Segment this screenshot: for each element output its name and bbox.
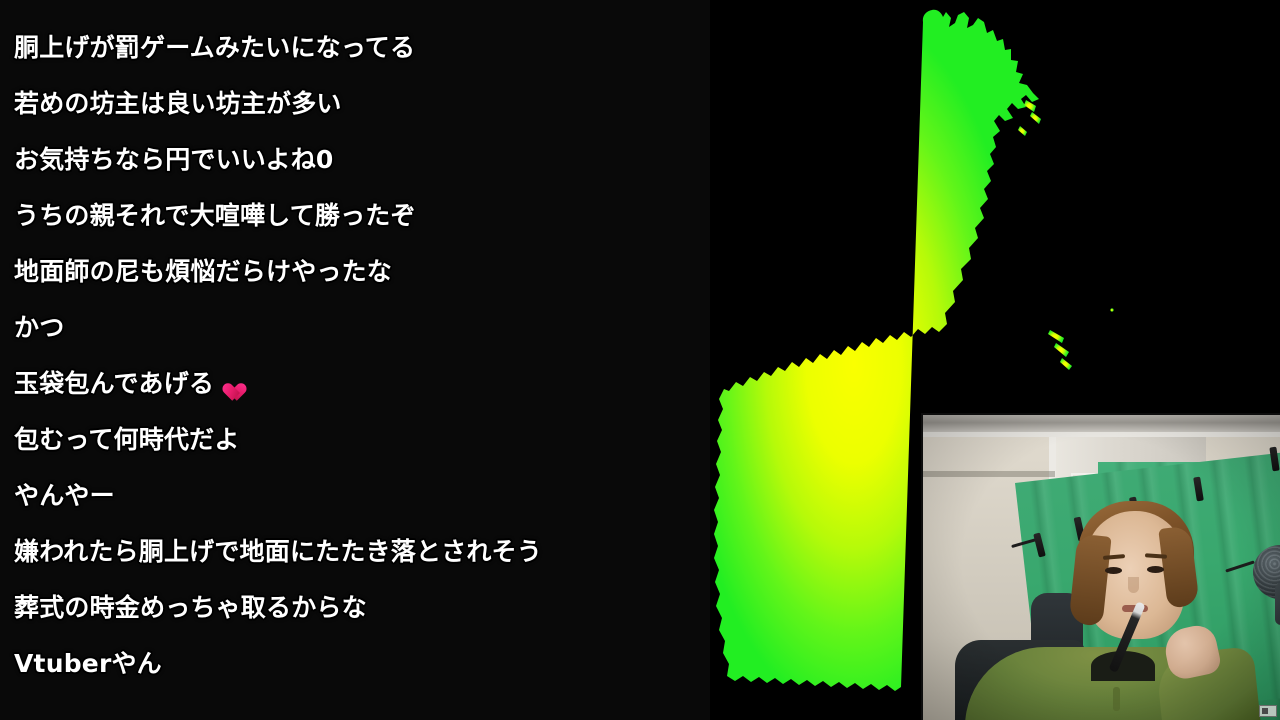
comment-text: 葬式の時金めっちゃ取るからな bbox=[14, 593, 367, 622]
streamer-webcam-overlay[interactable] bbox=[921, 413, 1280, 720]
comment-text: Vtuberやん bbox=[14, 649, 162, 678]
comment-list[interactable]: 胴上げが罰ゲームみたいになってる 若めの坊主は良い坊主が多い お気持ちなら円でい… bbox=[0, 0, 710, 692]
heart-icon bbox=[218, 375, 240, 395]
comment-item: お気持ちなら円でいいよね0 bbox=[0, 132, 710, 188]
comment-text: かつ bbox=[14, 313, 64, 342]
microphone-body bbox=[1275, 583, 1280, 625]
comment-item: 若めの坊主は良い坊主が多い bbox=[0, 76, 710, 132]
jacket-zipper bbox=[1113, 687, 1120, 711]
comment-text: 玉袋包んであげる bbox=[14, 369, 214, 398]
comment-text: うちの親それで大喧嘩して勝ったぞ bbox=[14, 201, 416, 230]
comment-item: Vtuberやん bbox=[0, 636, 710, 692]
live-comment-panel[interactable]: 胴上げが罰ゲームみたいになってる 若めの坊主は良い坊主が多い お気持ちなら円でい… bbox=[0, 0, 710, 720]
streamer-eye-left bbox=[1105, 567, 1122, 574]
comment-text: 胴上げが罰ゲームみたいになってる bbox=[14, 33, 415, 62]
comment-text: お気持ちなら円でいいよね0 bbox=[14, 145, 334, 174]
comment-item: 地面師の尼も煩悩だらけやったな bbox=[0, 244, 710, 300]
wall-shadow-line bbox=[923, 471, 1055, 477]
comment-text: やんやー bbox=[14, 481, 115, 510]
comment-text: 地面師の尼も煩悩だらけやったな bbox=[14, 257, 392, 286]
comment-item: やんやー bbox=[0, 468, 710, 524]
comment-item: 胴上げが罰ゲームみたいになってる bbox=[0, 20, 710, 76]
ceiling-trim bbox=[923, 415, 1280, 432]
stream-screen: 胴上げが罰ゲームみたいになってる 若めの坊主は良い坊主が多い お気持ちなら円でい… bbox=[0, 0, 1280, 720]
comment-item: 葬式の時金めっちゃ取るからな bbox=[0, 580, 710, 636]
comment-text: 嫌われたら胴上げで地面にたたき落とされそう bbox=[14, 537, 542, 566]
comment-text: 若めの坊主は良い坊主が多い bbox=[14, 89, 342, 118]
streamer-eye-right bbox=[1147, 566, 1164, 573]
comment-item: 包むって何時代だよ bbox=[0, 412, 710, 468]
comment-item: 嫌われたら胴上げで地面にたたき落とされそう bbox=[0, 524, 710, 580]
comment-item: 玉袋包んであげる bbox=[0, 356, 710, 412]
webcam-video bbox=[923, 415, 1280, 720]
ceiling-trim-highlight bbox=[923, 432, 1280, 437]
comment-item: かつ bbox=[0, 300, 710, 356]
comment-item: うちの親それで大喧嘩して勝ったぞ bbox=[0, 188, 710, 244]
streamer-nose bbox=[1128, 577, 1139, 593]
recording-badge-icon bbox=[1259, 705, 1277, 717]
comment-text: 包むって何時代だよ bbox=[14, 425, 240, 454]
